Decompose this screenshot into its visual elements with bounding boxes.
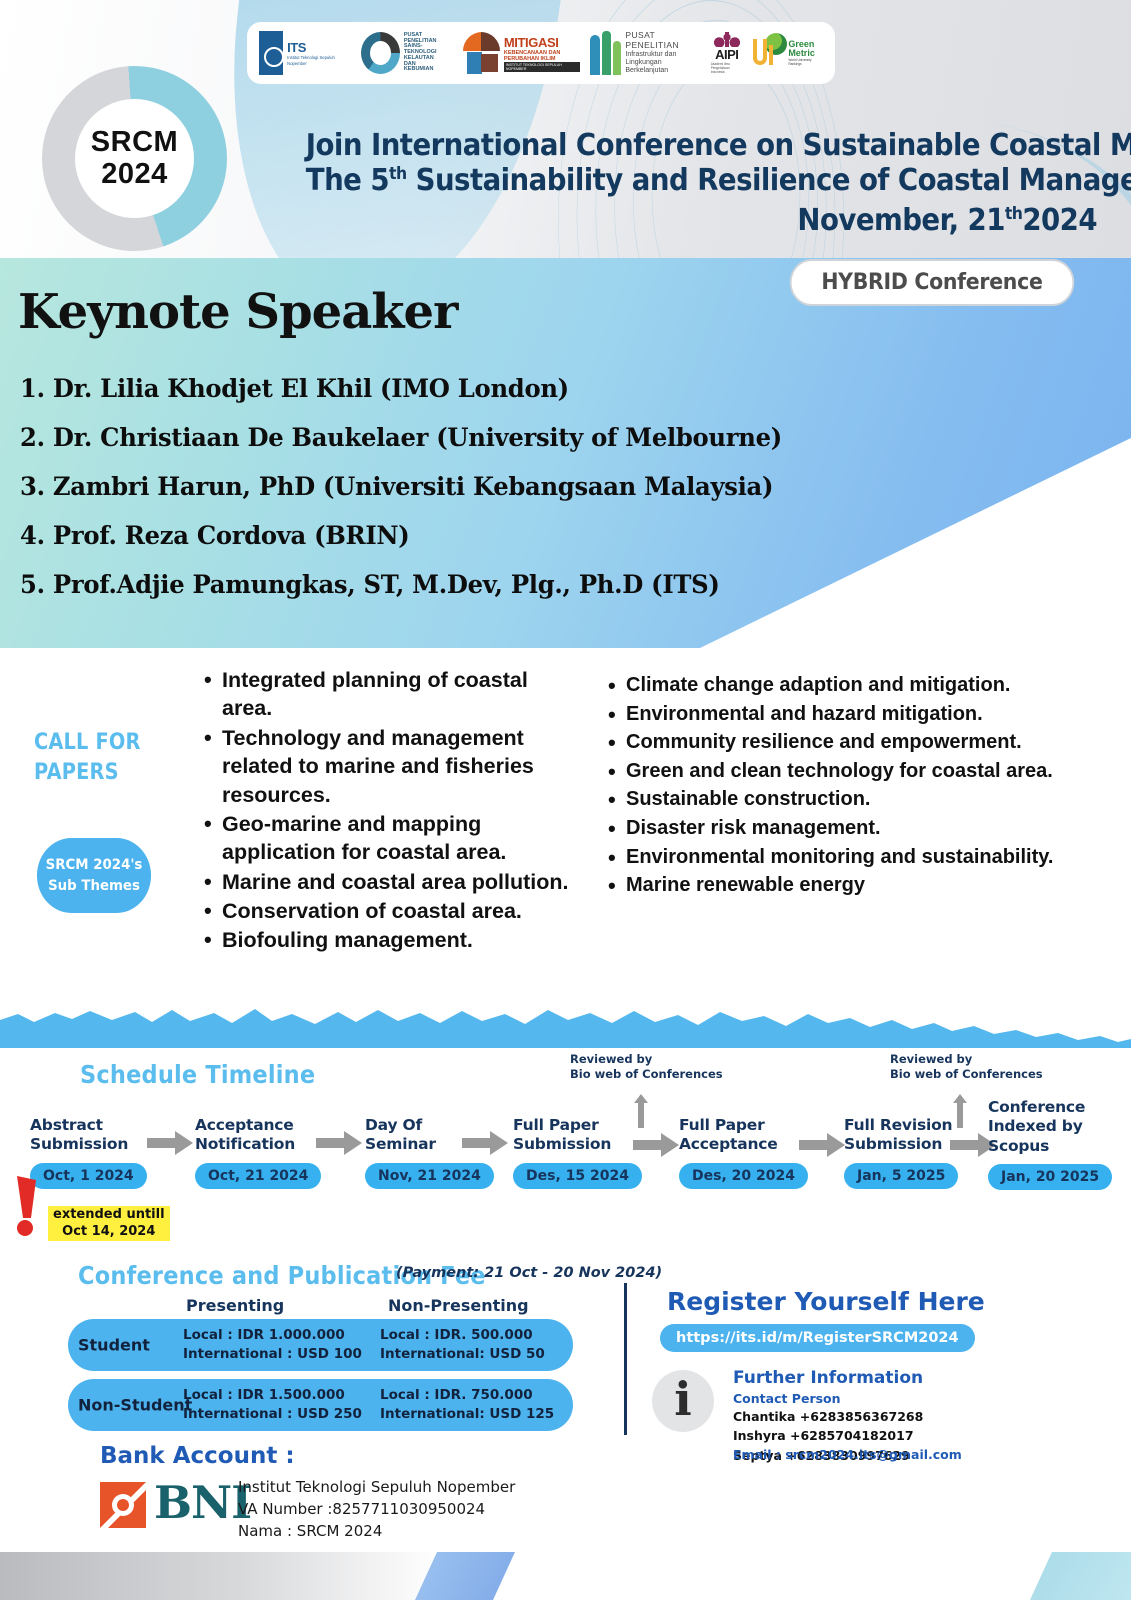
theme-item: Marine renewable energy [604,872,1099,900]
keynote-speaker-item: 2. Dr. Christiaan De Baukelaer (Universi… [20,425,782,450]
footer-grey-band [0,1552,440,1600]
call-for-papers-title: CALL FOR PAPERS [34,728,141,787]
ppil-line-4: Lingkungan Berkelanjutan [625,59,700,75]
footer-blue-shape-2 [1030,1552,1131,1600]
fee-column-header-non-presenting: Non-Presenting [388,1296,529,1315]
keynote-speaker-item: 3. Zambri Harun, PhD (Universiti Kebangs… [20,474,782,499]
timeline-date-chip: Oct, 21 2024 [195,1163,321,1189]
fee-row-student: Student Local : IDR 1.000.000 Internatio… [68,1319,573,1371]
schedule-timeline: Abstract Submission Oct, 1 2024 Acceptan… [24,1110,1114,1230]
fee-cell-presenting: Local : IDR 1.500.000 International : US… [183,1386,362,1424]
bni-wordmark: BNI [154,1482,251,1523]
fee-cell-line-1: Local : IDR 1.000.000 [183,1326,362,1345]
fee-cell-line-2: International : USD 100 [183,1345,362,1364]
exclamation-alert-icon [14,1174,44,1236]
hybrid-conference-badge: HYBRID Conference [790,259,1074,306]
keynote-speaker-item: 4. Prof. Reza Cordova (BRIN) [20,523,782,548]
timeline-step-abstract-submission: Abstract Submission Oct, 1 2024 [30,1116,147,1189]
register-link[interactable]: https://its.id/m/RegisterSRCM2024 [660,1324,975,1352]
fee-cell-line-2: International : USD 250 [183,1405,362,1424]
fee-cell-line-1: Local : IDR. 500.000 [380,1326,545,1345]
theme-item: Biofouling management. [200,926,570,954]
keynote-speaker-item: 5. Prof.Adjie Pamungkas, ST, M.Dev, Plg.… [20,572,782,597]
review-note-line-2: Bio web of Conferences [890,1067,1043,1082]
bank-detail-name: Nama : SRCM 2024 [238,1521,515,1543]
timeline-step-label-line-1: Abstract [30,1116,147,1135]
bank-account-title: Bank Account : [100,1443,295,1469]
srcm-badge: SRCM 2024 [42,66,227,251]
extended-note-line-2: Oct 14, 2024 [53,1224,165,1241]
srcm-badge-center: SRCM 2024 [75,99,194,218]
fee-cell-line-2: International: USD 50 [380,1345,545,1364]
fee-category-label: Student [78,1336,150,1355]
aipi-icon: AIPI Akademi Ilmu Pengetahuan Indonesia [711,32,743,74]
ppil-line-2: PENELITIAN [625,41,700,51]
timeline-step-full-revision-submission: Full Revision Submission Jan, 5 2025 [844,1116,958,1189]
timeline-up-arrow-icon [634,1094,648,1128]
conference-date-year: 2024 [1022,203,1097,238]
contact-person-item: Chantika +6283856367268 [733,1407,923,1426]
timeline-arrow-icon [633,1132,679,1158]
contact-person-item: Inshyra +6285704182017 [733,1426,923,1445]
fee-cell-non-presenting: Local : IDR. 500.000 International: USD … [380,1326,545,1364]
its-logo-title: ITS [287,40,351,55]
aipi-title: AIPI [715,47,738,62]
timeline-date-chip: Oct, 1 2024 [30,1163,147,1189]
title-line-2-rest: Sustainability and Resilience of Coastal… [416,163,1131,198]
sub-themes-bubble-line-1: SRCM 2024's [46,855,143,876]
timeline-step-label-line-3: Scopus [988,1137,1112,1156]
bni-logo: BNI [100,1482,251,1528]
timeline-step-full-paper-submission: Full Paper Submission Des, 15 2024 [513,1116,642,1189]
ui-greenmetric-logo: Green Metric World University Rankings [753,33,823,73]
fee-cell-line-1: Local : IDR 1.500.000 [183,1386,362,1405]
fee-category-label: Non-Student [78,1396,192,1415]
theme-item: Community resilience and empowerment. [604,729,1099,757]
timeline-step-label-line-1: Full Paper [679,1116,808,1135]
timeline-date-chip: Jan, 20 2025 [988,1164,1112,1190]
register-title: Register Yourself Here [667,1287,985,1316]
theme-item: Technology and management related to mar… [200,724,570,809]
greenmetric-line-2: Metric [788,49,823,58]
fee-cell-non-presenting: Local : IDR. 750.000 International: USD … [380,1386,554,1424]
greenmetric-sub: World University Rankings [788,58,823,66]
theme-item: Marine and coastal area pollution. [200,868,570,896]
review-note-line-1: Reviewed by [890,1052,1043,1067]
timeline-step-label-line-2: Notification [195,1135,321,1154]
theme-item: Disaster risk management. [604,815,1099,843]
poster-footer [0,1552,1131,1600]
fee-column-header-presenting: Presenting [186,1296,284,1315]
its-logo-sub: Institut Teknologi Sepuluh Nopember [287,55,351,65]
timeline-arrow-icon [147,1130,193,1156]
mitigasi-logo: MITIGASI KEBENCANAAN DAN PERUBAHAN IKLIM… [463,32,580,74]
contact-person-label: Contact Person [733,1391,841,1406]
theme-item: Environmental monitoring and sustainabil… [604,844,1099,872]
extended-note-line-1: extended untill [53,1207,165,1224]
info-icon: i [652,1370,714,1432]
conference-date-sup: th [1005,204,1023,224]
timeline-step-label-line-1: Acceptance [195,1116,321,1135]
theme-item: Green and clean technology for coastal a… [604,758,1099,786]
sub-themes-column-right: Climate change adaption and mitigation. … [604,672,1099,901]
timeline-step-label-line-2: Submission [30,1135,147,1154]
theme-item: Environmental and hazard mitigation. [604,701,1099,729]
sub-themes-bubble: SRCM 2024's Sub Themes [37,838,151,913]
timeline-date-chip: Nov, 21 2024 [365,1163,494,1189]
pusat-penelitian-sains-teknologi-kelautan-logo: PUSAT PENELITIAN SAINS-TEKNOLOGI KELAUTA… [361,32,453,74]
timeline-step-label-line-2: Submission [844,1135,958,1154]
its-logo: ITS Institut Teknologi Sepuluh Nopember [259,31,351,75]
bank-detail-va-number: VA Number :8257711030950024 [238,1499,515,1521]
timeline-review-note-2: Reviewed by Bio web of Conferences [890,1052,1043,1082]
mitigasi-icon [463,32,500,74]
fee-row-non-student: Non-Student Local : IDR 1.500.000 Intern… [68,1379,573,1431]
kelautan-icon [361,32,400,74]
schedule-timeline-title: Schedule Timeline [80,1060,315,1089]
srcm-badge-line-1: SRCM [91,127,178,159]
ppil-line-3: Infrastruktur dan [625,51,700,59]
timeline-step-label-line-1: Full Revision [844,1116,958,1135]
fee-cell-line-1: Local : IDR. 750.000 [380,1386,554,1405]
sponsor-logo-strip: ITS Institut Teknologi Sepuluh Nopember … [247,22,835,84]
conference-date-prefix: November, 21 [797,203,1004,238]
psk-line-5: KEBUMIAN [404,67,453,73]
further-information-title: Further Information [733,1368,923,1388]
bank-account-details: Institut Teknologi Sepuluh Nopember VA N… [238,1477,515,1542]
fee-cell-presenting: Local : IDR 1.000.000 International : US… [183,1326,362,1364]
timeline-date-chip: Jan, 5 2025 [844,1163,958,1189]
timeline-step-label-line-2: Indexed by [988,1117,1112,1136]
review-note-line-1: Reviewed by [570,1052,723,1067]
review-note-line-2: Bio web of Conferences [570,1067,723,1082]
theme-item: Geo-marine and mapping application for c… [200,810,570,867]
timeline-arrow-icon [462,1130,508,1156]
keynote-speaker-item: 1. Dr. Lilia Khodjet El Khil (IMO London… [20,376,782,401]
keynote-speaker-list: 1. Dr. Lilia Khodjet El Khil (IMO London… [20,376,805,621]
call-for-papers-title-line-1: CALL FOR [34,728,141,758]
conference-date: November, 21th2024 [306,203,1097,238]
mitigasi-title: MITIGASI [504,35,580,50]
conference-title-line-1: Join International Conference on Sustain… [306,128,1097,163]
conference-title-line-2: The 5th Sustainability and Resilience of… [306,163,1097,198]
srcm-badge-line-2: 2024 [101,159,168,191]
timeline-step-acceptance-notification: Acceptance Notification Oct, 21 2024 [195,1116,321,1189]
fee-payment-note: (Payment: 21 Oct - 20 Nov 2024) [396,1265,662,1281]
theme-item: Climate change adaption and mitigation. [604,672,1099,700]
bni-icon [100,1482,146,1528]
timeline-step-label-line-1: Full Paper [513,1116,642,1135]
title-line-2-sup: th [389,164,407,184]
theme-item: Conservation of coastal area. [200,897,570,925]
timeline-step-conference-indexed: Conference Indexed by Scopus Jan, 20 202… [988,1098,1112,1190]
timeline-step-label-line-2: Acceptance [679,1135,808,1154]
timeline-arrow-icon [799,1132,845,1158]
wave-divider [0,1004,1131,1048]
deadline-extended-note: extended untill Oct 14, 2024 [48,1206,170,1241]
theme-item: Sustainable construction. [604,786,1099,814]
aipi-logo: AIPI Akademi Ilmu Pengetahuan Indonesia [711,32,743,74]
sub-themes-bubble-line-2: Sub Themes [48,876,140,897]
timeline-up-arrow-icon [953,1094,967,1128]
aipi-sub: Akademi Ilmu Pengetahuan Indonesia [711,62,743,74]
theme-item: Integrated planning of coastal area. [200,666,570,723]
title-line-2-prefix: The 5 [306,163,389,198]
timeline-step-label-line-1: Conference [988,1098,1112,1117]
timeline-date-chip: Des, 15 2024 [513,1163,642,1189]
timeline-date-chip: Des, 20 2024 [679,1163,808,1189]
its-icon [259,31,283,75]
conference-title-block: Join International Conference on Sustain… [237,128,1097,238]
keynote-heading: Keynote Speaker [18,284,457,340]
timeline-review-note-1: Reviewed by Bio web of Conferences [570,1052,723,1082]
timeline-step-label-line-2: Submission [513,1135,642,1154]
greenmetric-icon [753,33,785,73]
contact-email[interactable]: Email : srcm2024.its@gmail.com [733,1447,962,1462]
infrastruktur-icon [590,31,622,75]
sub-themes-column-left: Integrated planning of coastal area. Tec… [200,666,570,956]
mitigasi-line-3: INSTITUT TEKNOLOGI SEPULUH NOPEMBER [504,62,580,72]
timeline-step-full-paper-acceptance: Full Paper Acceptance Des, 20 2024 [679,1116,808,1189]
section-divider [624,1283,627,1435]
call-for-papers-title-line-2: PAPERS [34,758,141,788]
fee-cell-line-2: International: USD 125 [380,1405,554,1424]
bank-detail-institution: Institut Teknologi Sepuluh Nopember [238,1477,515,1499]
timeline-arrow-icon [316,1130,362,1156]
pusat-penelitian-infrastruktur-logo: PUSAT PENELITIAN Infrastruktur dan Lingk… [590,31,701,75]
